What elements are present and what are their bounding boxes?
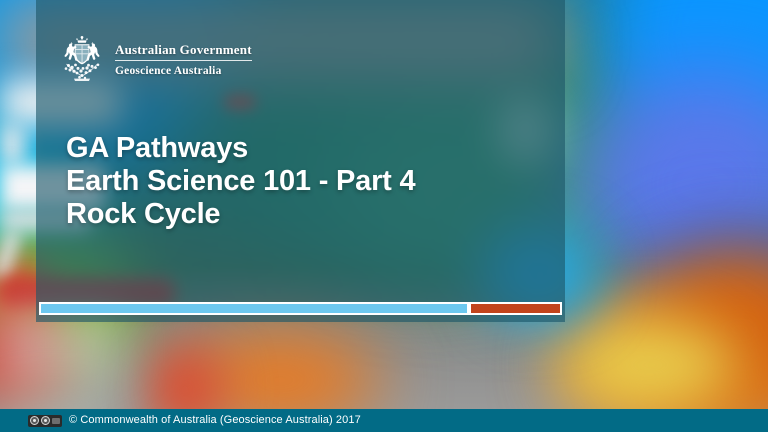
copyright-footer: © Commonwealth of Australia (Geoscience … — [0, 409, 768, 432]
copyright-text: © Commonwealth of Australia (Geoscience … — [69, 414, 361, 427]
australian-coat-of-arms-icon — [58, 34, 106, 84]
video-title-slide: Australian Government Geoscience Austral… — [0, 0, 768, 432]
background-white-shape-2 — [0, 125, 24, 165]
cc-badge-tail — [52, 418, 60, 424]
progress-remaining-segment[interactable] — [471, 304, 560, 313]
logo-line-geoscience-australia: Geoscience Australia — [115, 64, 252, 78]
progress-bar[interactable] — [39, 302, 562, 315]
government-logo: Australian Government Geoscience Austral… — [58, 34, 252, 84]
cc-by-person-icon — [41, 416, 50, 425]
logo-line-australian-government: Australian Government — [115, 42, 252, 58]
creative-commons-by-badge-icon — [28, 415, 62, 427]
government-logo-text: Australian Government Geoscience Austral… — [115, 40, 252, 78]
background-blob-yellow-1 — [560, 320, 740, 410]
cc-circle-icon — [30, 416, 39, 425]
title-line-3: Rock Cycle — [66, 198, 536, 231]
page-title: GA Pathways Earth Science 101 - Part 4 R… — [66, 132, 536, 231]
title-line-2: Earth Science 101 - Part 4 — [66, 165, 536, 198]
title-overlay-panel: Australian Government Geoscience Austral… — [36, 0, 565, 322]
progress-played-segment[interactable] — [41, 304, 467, 313]
logo-divider — [115, 60, 252, 61]
title-line-1: GA Pathways — [66, 132, 536, 165]
